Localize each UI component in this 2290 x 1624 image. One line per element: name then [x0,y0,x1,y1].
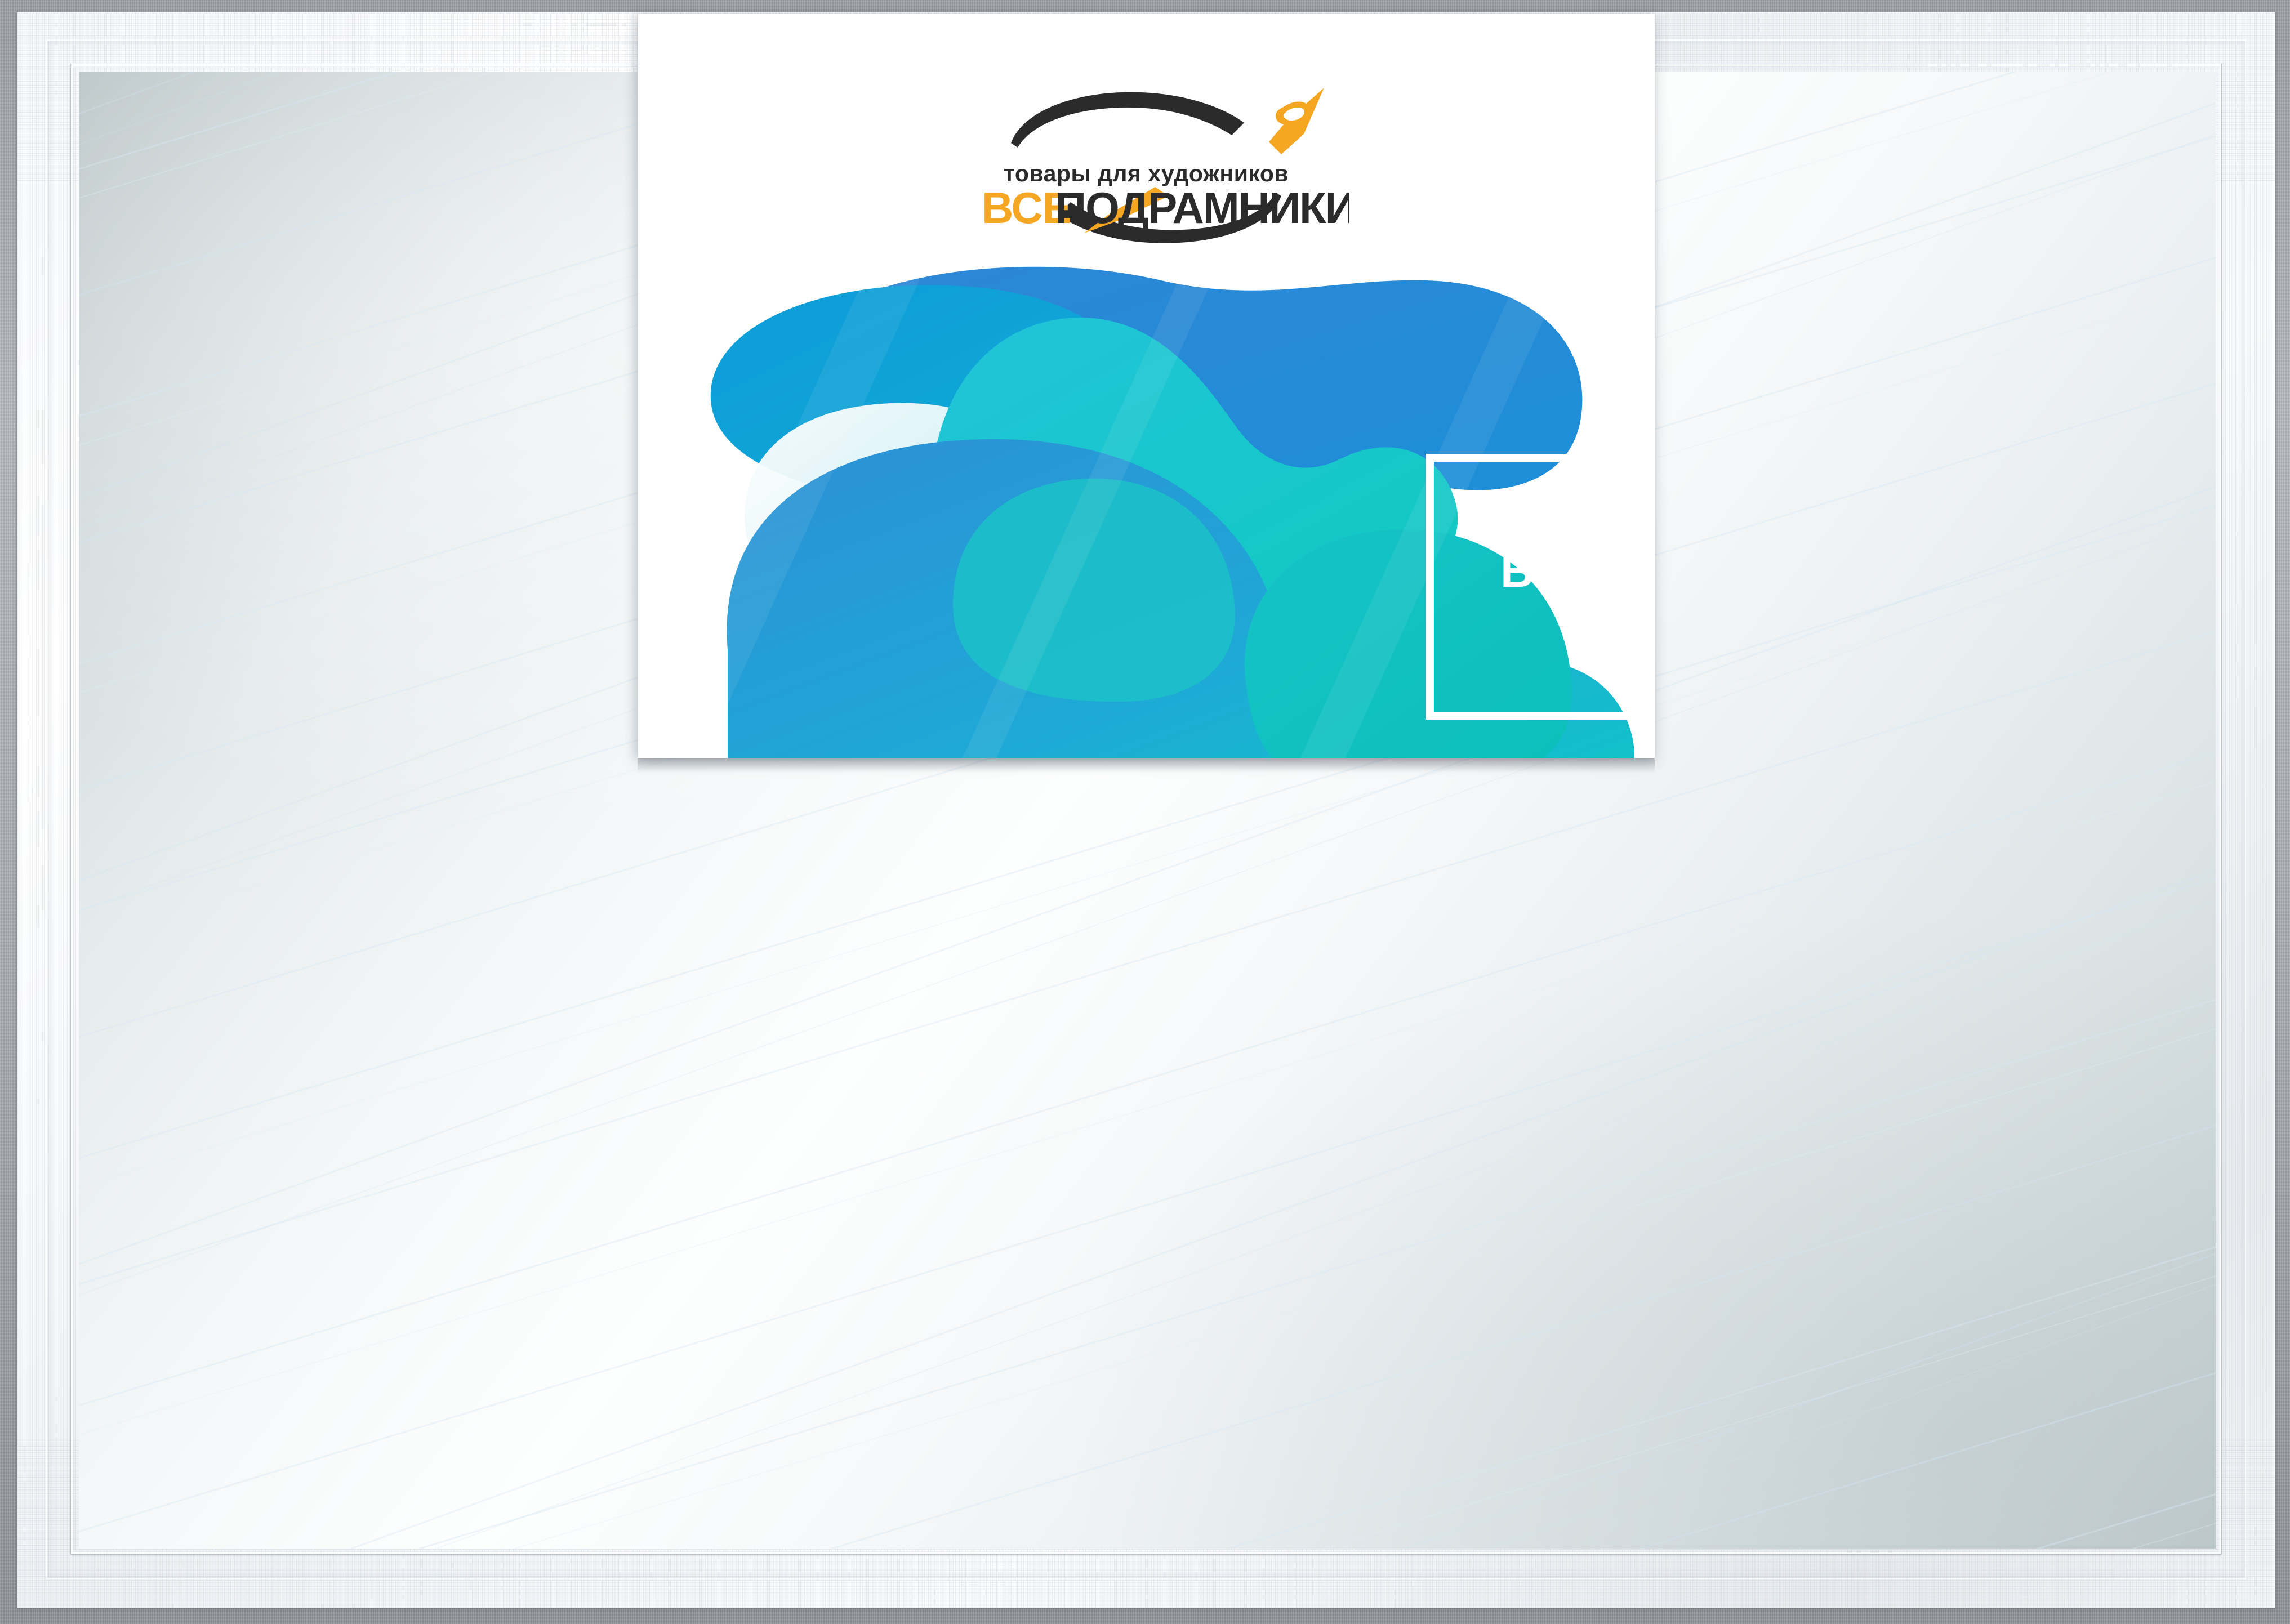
product-size: 55х75 см [1426,637,1655,686]
logo-brand-main: ПОДРАМНИКИ [1055,183,1349,233]
brand-logo: товары для художников ВСЕ ПОДРАМНИКИ [638,80,1655,249]
product-label-card: товары для художников ВСЕ ПОДРАМНИКИ [638,14,1655,758]
framed-mirror-product: товары для художников ВСЕ ПОДРАМНИКИ [0,0,2290,1624]
product-title: ЗЕРКАЛО [1426,471,1655,536]
swoosh-top-icon [1011,92,1244,148]
product-subtitle: В ПЛАСТИКОВОЙ РАМЕ [1426,548,1655,595]
brand-logo-svg: товары для художников ВСЕ ПОДРАМНИКИ [943,80,1349,249]
